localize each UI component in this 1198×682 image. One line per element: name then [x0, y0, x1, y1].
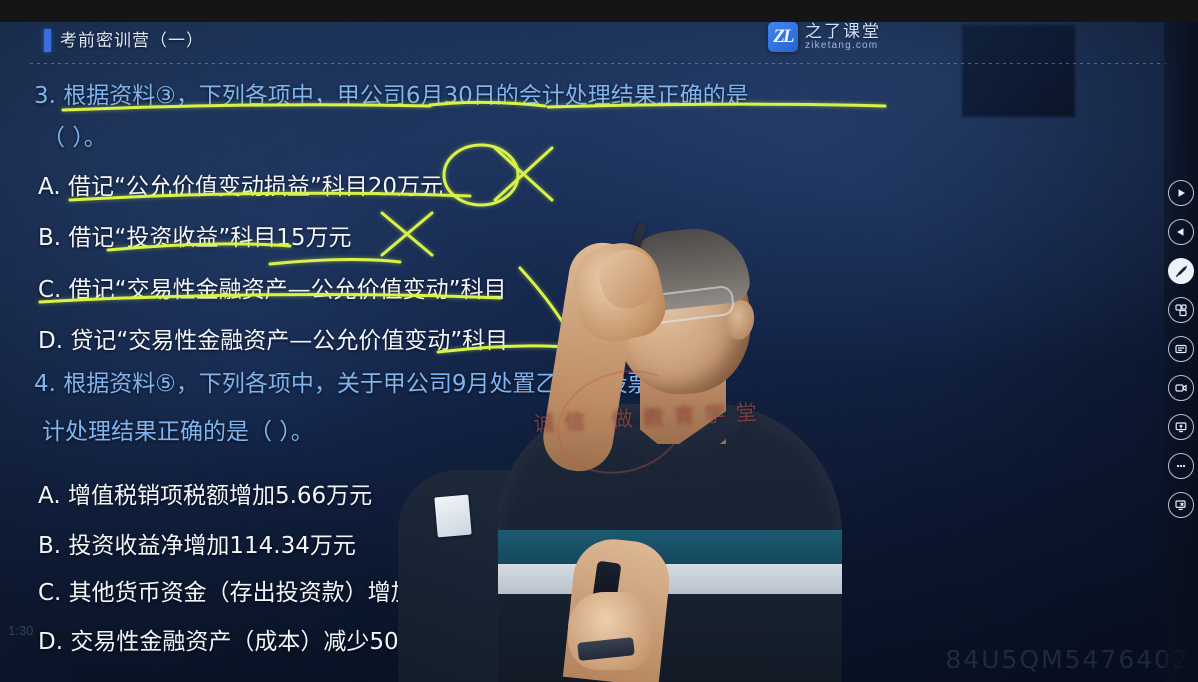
- question-4-option-a: A. 增值税销项税额增加5.66万元: [38, 476, 372, 510]
- right-toolbar: [1164, 22, 1198, 682]
- brand-logo-text: 之了课堂 ziketang.com: [805, 23, 881, 51]
- question-4-option-d: D. 交易性金融资产（成本）减少500万元: [38, 622, 459, 656]
- video-player-stage: 考前密训营（一） ZL 之了课堂 ziketang.com 3. 根据资料③，下…: [0, 0, 1198, 682]
- slide-header: 考前密训营（一）: [0, 24, 1198, 62]
- brand-name-cn: 之了课堂: [805, 23, 881, 41]
- brand-logo: ZL 之了课堂 ziketang.com: [768, 22, 881, 52]
- question-3-stem-line-1: 3. 根据资料③，下列各项中，甲公司6月30日的会计处理结果正确的是: [34, 76, 749, 110]
- layout-switch-icon[interactable]: [1168, 297, 1194, 323]
- question-4-option-c: C. 其他货币资金（存出投资款）增加600万元: [38, 573, 504, 607]
- question-4-option-b: B. 投资收益净增加114.34万元: [38, 526, 356, 560]
- brand-name-en: ziketang.com: [805, 41, 881, 52]
- page-title: 考前密训营（一）: [60, 26, 204, 51]
- brand-logo-icon: ZL: [768, 22, 798, 52]
- question-3-option-b: B. 借记“投资收益”科目15万元: [38, 218, 352, 252]
- header-divider: [30, 63, 1170, 64]
- question-3-option-c: C. 借记“交易性金融资产—公允价值变动”科目: [38, 270, 507, 304]
- brand-logo-mark-text: ZL: [773, 26, 792, 48]
- play-icon[interactable]: [1168, 180, 1194, 206]
- question-3-option-a: A. 借记“公允价值变动损益”科目20万元: [38, 167, 443, 201]
- camera-video-icon[interactable]: [1168, 375, 1194, 401]
- header-accent-bar: [44, 29, 51, 52]
- top-letterbox-bar: [0, 0, 1198, 22]
- question-3-option-d: D. 贷记“交易性金融资产—公允价值变动”科目: [38, 321, 508, 355]
- previous-icon[interactable]: [1168, 219, 1194, 245]
- more-options-icon[interactable]: [1168, 453, 1194, 479]
- slide-content: 3. 根据资料③，下列各项中，甲公司6月30日的会计处理结果正确的是 （ ）。 …: [0, 0, 1198, 682]
- pen-annotate-icon[interactable]: [1168, 258, 1194, 284]
- whiteboard-icon[interactable]: [1168, 336, 1194, 362]
- question-4-stem-line-1: 4. 根据资料⑤，下列各项中，关于甲公司9月处置乙公司股票时的会: [34, 364, 720, 398]
- question-3-stem-line-2: （ ）。: [42, 118, 107, 152]
- screen-share-icon[interactable]: [1168, 414, 1194, 440]
- exit-screen-icon[interactable]: [1168, 492, 1194, 518]
- question-4-stem-line-2: 计处理结果正确的是（ ）。: [42, 412, 314, 446]
